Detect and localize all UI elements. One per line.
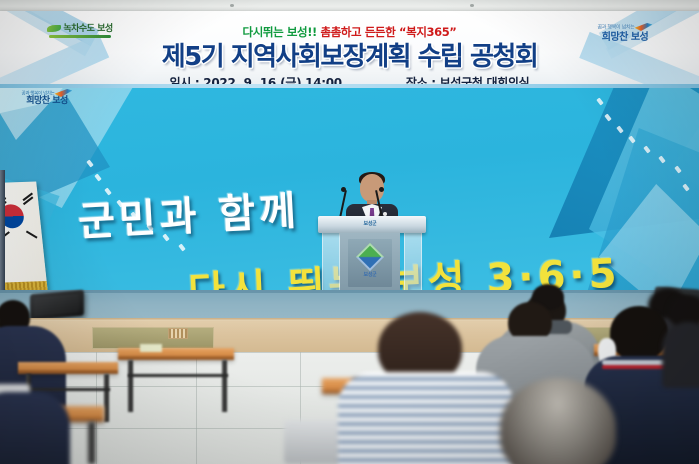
audience-man-balding-foreground bbox=[492, 378, 624, 464]
audience-head bbox=[500, 378, 616, 464]
table-leg bbox=[128, 360, 133, 412]
audience-torso bbox=[0, 392, 70, 464]
audience-person-foreground-left bbox=[0, 392, 70, 464]
apron-vent-grill bbox=[168, 328, 188, 339]
public-hearing-photo: 녹차수도 보성 꿈과 행복이 넘치는 희망찬 보성 다시뛰는 보성!! 촘촘하고… bbox=[0, 0, 699, 464]
backdrop-dash bbox=[94, 174, 101, 182]
backdrop-dash bbox=[178, 244, 185, 252]
backdrop-boseong-logo: 꿈과 행복이 넘치는 희망찬 보성 bbox=[4, 89, 90, 106]
podium-front-panel: 보성군 bbox=[348, 239, 392, 287]
audience-chair bbox=[284, 420, 342, 464]
shirt-stripes bbox=[338, 372, 514, 464]
table-crossbar bbox=[128, 374, 228, 377]
table-leg bbox=[222, 360, 227, 412]
table-crossbar bbox=[26, 388, 110, 391]
microphone-head bbox=[341, 187, 346, 192]
boseong-county-emblem-icon bbox=[356, 243, 384, 271]
table-leg bbox=[88, 422, 95, 464]
banner-title: 제5기 지역사회보장계획 수립 공청회 bbox=[0, 36, 699, 73]
audience-person-right-edge bbox=[664, 294, 699, 386]
podium-top-logo: 보성군 bbox=[356, 219, 384, 230]
audience-torso bbox=[662, 322, 699, 388]
event-banner: 녹차수도 보성 꿈과 행복이 넘치는 희망찬 보성 다시뛰는 보성!! 촘촘하고… bbox=[0, 11, 699, 91]
audience-table bbox=[18, 362, 118, 374]
podium-body: 보성군 bbox=[340, 233, 400, 295]
audience-woman-striped-polo bbox=[338, 330, 514, 464]
backdrop-logo-main: 희망찬 보성 bbox=[4, 97, 90, 106]
audience-torso bbox=[338, 372, 514, 464]
backdrop-slogan-line1: 군민과 함께 bbox=[77, 178, 302, 248]
microphone-head bbox=[379, 187, 384, 192]
backdrop-dash bbox=[596, 98, 603, 106]
podium-emblem-text: 보성군 bbox=[348, 271, 392, 278]
audience-head bbox=[610, 306, 668, 360]
table-leg bbox=[104, 374, 109, 422]
podium: 보성군 보성군 bbox=[318, 176, 426, 306]
audience-table bbox=[118, 348, 234, 360]
paper-document bbox=[140, 344, 162, 352]
